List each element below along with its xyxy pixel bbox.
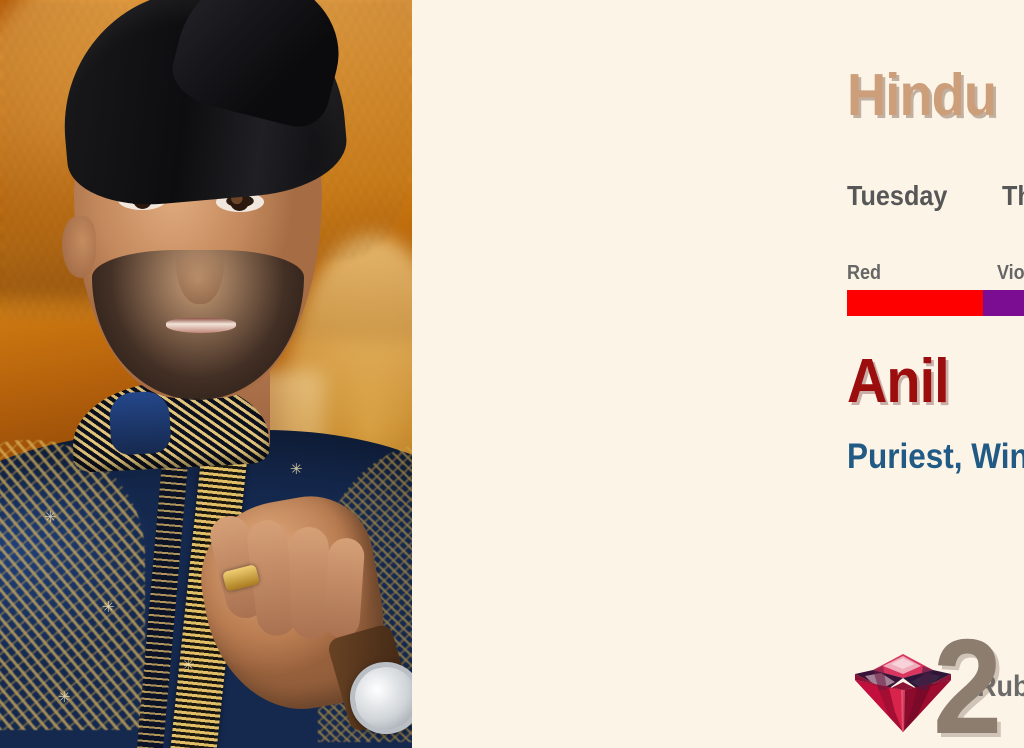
embroidery-sparkle: ✳ <box>102 600 115 615</box>
name-meaning: Puriest, Wind, God Of Wind <box>847 437 1024 477</box>
lucky-day-1: Tuesday <box>847 180 987 212</box>
lucky-color-label-2: Violet <box>997 262 1024 285</box>
religion-title: Hindu <box>847 61 996 129</box>
name-info-card: ✳ ✳ ✳ ✳ ✳ <box>0 0 1024 748</box>
lucky-color-label-1: Red <box>847 262 982 285</box>
lucky-colors-labels: RedViolet <box>847 262 1024 285</box>
collar-opening <box>108 390 171 455</box>
portrait-photo: ✳ ✳ ✳ ✳ ✳ <box>0 0 412 748</box>
finger <box>323 537 366 639</box>
color-swatch-violet <box>983 290 1024 316</box>
embroidery-sparkle: ✳ <box>58 690 71 705</box>
portrait-figure: ✳ ✳ ✳ ✳ ✳ <box>0 0 412 748</box>
person-name: Anil <box>847 346 949 417</box>
lucky-colors-bar <box>847 290 1024 316</box>
color-swatch-red <box>847 290 983 316</box>
nose <box>176 212 224 304</box>
rank-number: 2 <box>933 619 1002 748</box>
mouth <box>166 318 236 333</box>
info-panel: Hindu Tuesday Thursday RedViolet Anil Pu… <box>412 0 1024 748</box>
embroidery-sparkle: ✳ <box>290 462 303 477</box>
ear <box>62 216 96 278</box>
embroidery-sparkle: ✳ <box>44 510 57 525</box>
lucky-day-2: Thursday <box>1002 180 1024 212</box>
embroidery-sparkle: ✳ <box>182 658 195 673</box>
lucky-days-row: Tuesday Thursday <box>847 180 1024 212</box>
